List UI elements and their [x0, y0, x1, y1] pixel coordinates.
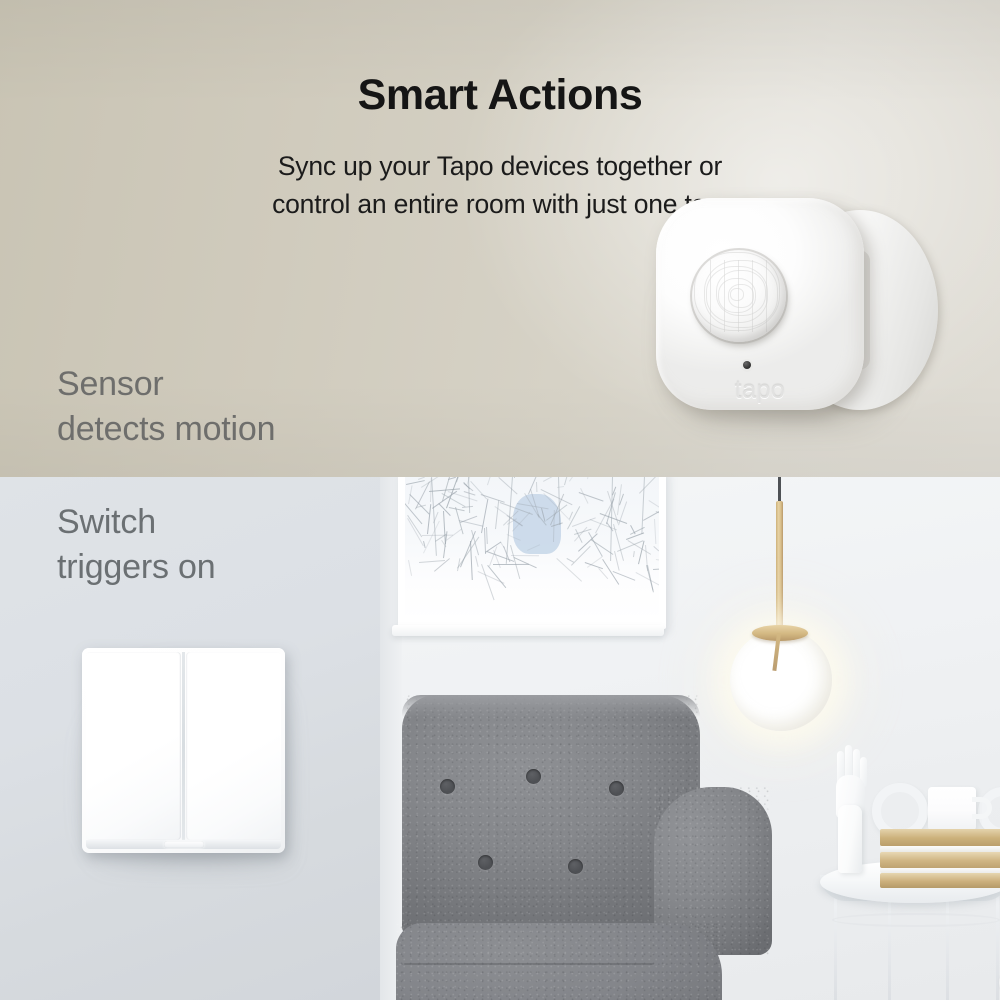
- step-label-switch: Switch triggers on: [57, 500, 215, 590]
- artwork-branch-stroke: [543, 477, 552, 482]
- pir-lens-rim: [690, 248, 788, 344]
- subtitle-line-1: Sync up your Tapo devices together or: [0, 148, 1000, 186]
- book: [880, 829, 1000, 846]
- artwork-branch-stroke: [614, 551, 620, 571]
- artwork-branch-stroke: [468, 477, 470, 513]
- armchair-back-highlight: [402, 695, 700, 717]
- framed-artwork: [398, 477, 666, 629]
- artwork-branch-stroke: [487, 477, 492, 485]
- artwork-branch-stroke: [456, 477, 459, 483]
- pendant-cord: [778, 477, 781, 503]
- armchair-tuft-button: [478, 855, 493, 870]
- ceramic-hand-sculpture: [832, 745, 866, 873]
- book-stack: [880, 829, 1000, 881]
- armchair-tuft-button: [568, 859, 583, 874]
- artwork-branch-stroke: [475, 556, 479, 567]
- artwork-branch-stroke: [464, 491, 476, 496]
- armchair-tuft-button: [526, 769, 541, 784]
- artwork-branch-stroke: [643, 508, 659, 521]
- table-leg: [834, 883, 837, 1000]
- artwork-branch-stroke: [610, 477, 613, 561]
- table-lower-ring: [832, 913, 1000, 927]
- armchair-tuft-button: [440, 779, 455, 794]
- artwork-branch-stroke: [471, 530, 479, 555]
- artwork-branch-stroke: [448, 477, 456, 480]
- promo-image-root: Smart Actions Sync up your Tapo devices …: [0, 0, 1000, 1000]
- tapo-wordmark: tapo: [656, 376, 864, 405]
- table-leg: [996, 883, 999, 1000]
- artwork-branch-stroke: [477, 571, 503, 584]
- pendant-brass-stem: [776, 501, 783, 629]
- artwork-branch-stroke: [511, 555, 539, 556]
- artwork-branch-stroke: [481, 564, 495, 600]
- artwork-branch-stroke: [556, 558, 581, 581]
- switch-faceplate: [82, 648, 285, 853]
- artwork-branch-stroke: [654, 519, 656, 544]
- sensor-status-led: [743, 361, 751, 369]
- artwork-branch-stroke: [486, 527, 488, 544]
- artwork-branch-stroke: [653, 568, 659, 570]
- wall-ledge: [392, 625, 664, 636]
- step-label-sensor-line-1: Sensor: [57, 362, 275, 407]
- artwork-branch-stroke: [422, 535, 453, 536]
- wall-switch-device: [82, 648, 287, 863]
- living-room-photo: alasans.ch: [380, 477, 1000, 1000]
- switch-indicator-led: [164, 841, 204, 848]
- artwork-branch-stroke: [587, 477, 592, 479]
- artwork-branch-stroke: [495, 500, 499, 529]
- artwork-branch-stroke: [569, 477, 583, 482]
- artwork-branch-stroke: [498, 477, 517, 494]
- grey-armchair: [396, 695, 756, 1000]
- book: [880, 873, 1000, 888]
- artwork-branch-stroke: [427, 504, 431, 534]
- artwork-branch-stroke: [510, 545, 520, 579]
- artwork-branch-stroke: [439, 503, 451, 516]
- artwork-branch-stroke: [598, 568, 608, 579]
- artwork-canvas: [405, 477, 659, 622]
- artwork-branch-stroke: [408, 560, 412, 576]
- step-label-switch-line-2: triggers on: [57, 545, 215, 590]
- white-mug: [928, 787, 976, 833]
- artwork-branch-stroke: [638, 541, 645, 565]
- artwork-branch-stroke: [514, 477, 516, 478]
- motion-sensor-device: tapo: [648, 190, 913, 435]
- artwork-branch-stroke: [528, 477, 539, 495]
- artwork-branch-stroke: [572, 517, 596, 527]
- artwork-branch-stroke: [423, 520, 440, 553]
- artwork-branch-stroke: [653, 546, 659, 551]
- artwork-branch-stroke: [633, 550, 635, 556]
- artwork-branch-stroke: [406, 480, 424, 485]
- armchair-seat-cushion: [396, 923, 722, 1000]
- book: [880, 852, 1000, 868]
- sensor-body: tapo: [656, 198, 864, 410]
- page-title: Smart Actions: [0, 70, 1000, 121]
- step-label-sensor: Sensor detects motion: [57, 362, 275, 452]
- armchair-seat-seam: [404, 963, 654, 965]
- step-label-sensor-line-2: detects motion: [57, 407, 275, 452]
- artwork-branch-stroke: [421, 477, 448, 488]
- artwork-branch-stroke: [636, 572, 659, 592]
- artwork-branch-stroke: [567, 558, 575, 563]
- artwork-branch-stroke: [536, 482, 537, 492]
- artwork-branch-stroke: [639, 477, 659, 494]
- switch-rocker-right: [186, 652, 281, 840]
- step-label-switch-line-1: Switch: [57, 500, 215, 545]
- armchair-tuft-button: [609, 781, 624, 796]
- switch-rocker-left: [86, 652, 181, 840]
- artwork-branch-stroke: [649, 500, 659, 521]
- hand-wrist: [838, 805, 862, 873]
- switch-divider: [182, 652, 185, 840]
- artwork-branch-stroke: [655, 559, 659, 566]
- armchair-fabric-texture: [396, 923, 722, 1000]
- artwork-branch-stroke: [419, 560, 445, 563]
